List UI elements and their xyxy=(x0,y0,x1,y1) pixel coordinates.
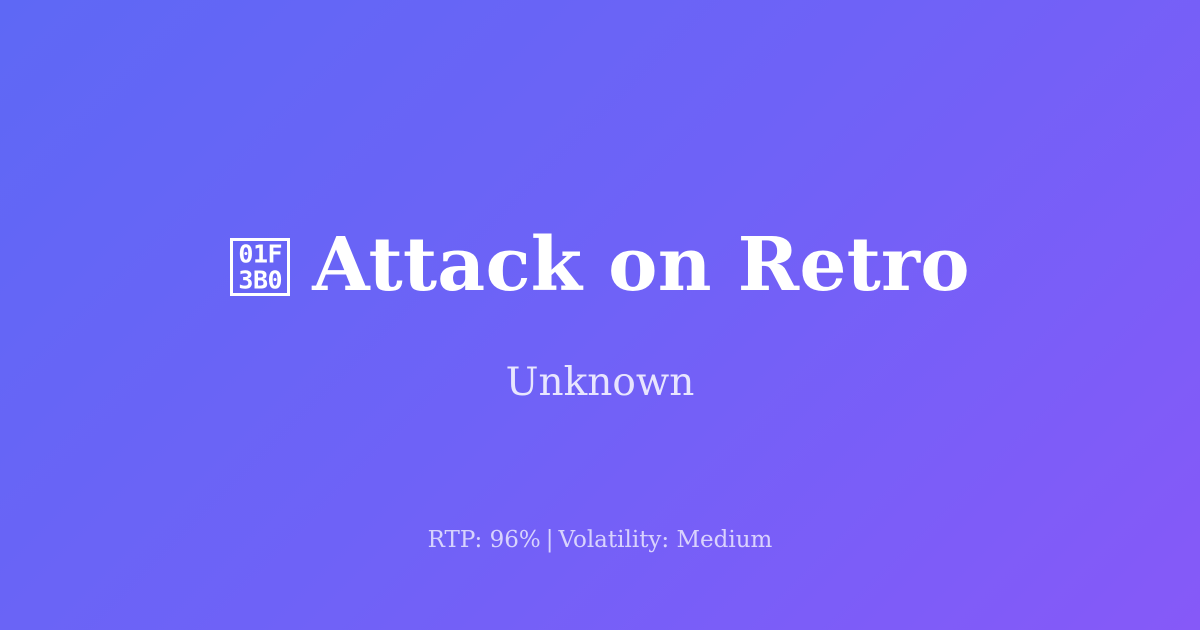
card-content: 01F 3B0 Attack on Retro Unknown RTP: 96%… xyxy=(0,0,1200,630)
game-title-text: Attack on Retro xyxy=(312,222,970,308)
page-title: 01F 3B0 Attack on Retro xyxy=(0,228,1200,302)
volatility-label: Volatility: Medium xyxy=(558,527,772,553)
game-provider-label: Unknown xyxy=(0,362,1200,405)
og-share-card: 01F 3B0 Attack on Retro Unknown RTP: 96%… xyxy=(0,0,1200,630)
game-meta-line: RTP: 96%|Volatility: Medium xyxy=(0,527,1200,555)
missing-glyph-box: 01F 3B0 xyxy=(233,242,287,293)
missing-glyph-codepoint-high: 01F xyxy=(238,242,282,268)
rtp-label: RTP: 96% xyxy=(428,527,541,553)
meta-separator: | xyxy=(541,527,559,553)
slot-machine-icon: 01F 3B0 xyxy=(230,238,290,296)
missing-glyph-codepoint-low: 3B0 xyxy=(238,267,282,293)
